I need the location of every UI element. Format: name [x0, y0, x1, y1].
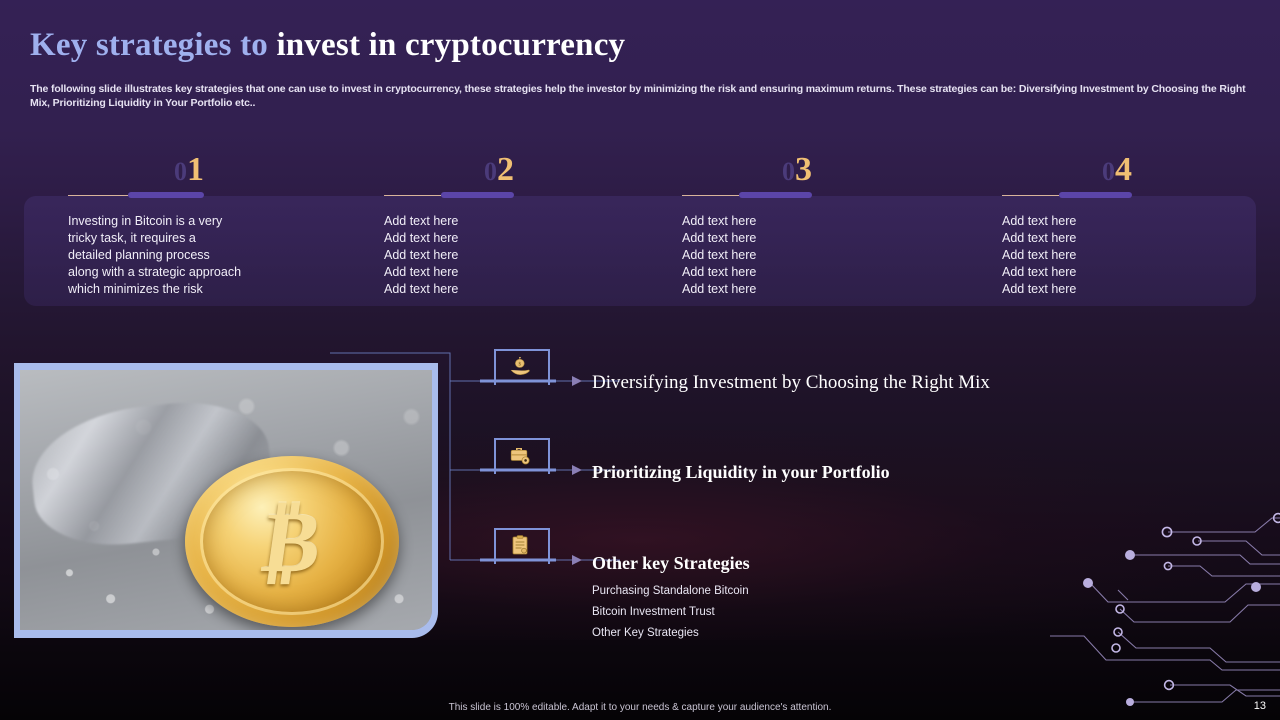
list-item: Other Key Strategies — [592, 623, 749, 644]
strategy-title-1: Diversifying Investment by Choosing the … — [592, 372, 990, 394]
column-number-digit: 1 — [187, 151, 204, 188]
column-number-4: 04 — [1002, 150, 1132, 190]
page-title-main: invest in cryptocurrency — [276, 27, 625, 63]
column-number-digit: 2 — [497, 151, 514, 188]
list-item: Bitcoin Investment Trust — [592, 602, 749, 623]
page-number: 13 — [1254, 700, 1266, 712]
column-body-line: Add text here — [1002, 247, 1280, 264]
column-body-line: Add text here — [384, 281, 684, 298]
divider-thin-rule — [1002, 195, 1059, 196]
column-number-prefix: 0 — [484, 157, 497, 186]
hand-holding-money-bag-icon: $ — [494, 349, 546, 383]
divider-thin-rule — [682, 195, 739, 196]
column-number-prefix: 0 — [1102, 157, 1115, 186]
column-number-digit: 3 — [795, 151, 812, 188]
page-subtitle: The following slide illustrates key stra… — [30, 82, 1252, 110]
column-number-3: 03 — [682, 150, 812, 190]
divider-thin-rule — [68, 195, 128, 196]
numbered-column-3: 03 Add text here Add text here Add text … — [682, 150, 982, 298]
numbered-column-4: 04 Add text here Add text here Add text … — [1002, 150, 1280, 298]
list-item: Purchasing Standalone Bitcoin — [592, 581, 749, 602]
numbered-column-2: 02 Add text here Add text here Add text … — [384, 150, 684, 298]
column-number-1: 01 — [68, 150, 204, 190]
divider-thick-bar — [128, 192, 204, 198]
column-body-line: detailed planning process — [68, 247, 368, 264]
column-body-line: along with a strategic approach — [68, 264, 368, 281]
column-body-1: Investing in Bitcoin is a very tricky ta… — [68, 213, 368, 298]
divider-thick-bar — [441, 192, 514, 198]
strategy-icon-box-1[interactable]: $ — [494, 349, 546, 383]
column-body-4: Add text here Add text here Add text her… — [1002, 213, 1280, 298]
clipboard-document-icon — [494, 528, 546, 562]
column-divider-2 — [384, 192, 514, 199]
column-body-line: Add text here — [384, 213, 684, 230]
column-number-2: 02 — [384, 150, 514, 190]
column-divider-4 — [1002, 192, 1132, 199]
column-body-line: Investing in Bitcoin is a very — [68, 213, 368, 230]
column-body-line: tricky task, it requires a — [68, 230, 368, 247]
connector-diagram — [320, 345, 620, 645]
page-title-accent: Key strategies to — [30, 27, 276, 63]
column-body-3: Add text here Add text here Add text her… — [682, 213, 982, 298]
numbered-column-1: 01 Investing in Bitcoin is a very tricky… — [68, 150, 368, 298]
column-body-line: Add text here — [682, 213, 982, 230]
arrowhead-2 — [572, 465, 582, 475]
column-number-prefix: 0 — [174, 157, 187, 186]
arrowhead-3 — [572, 555, 582, 565]
other-strategies-list: Purchasing Standalone Bitcoin Bitcoin In… — [592, 581, 749, 644]
column-body-2: Add text here Add text here Add text her… — [384, 213, 684, 298]
divider-thin-rule — [384, 195, 441, 196]
column-body-line: Add text here — [682, 230, 982, 247]
column-body-line: Add text here — [1002, 230, 1280, 247]
column-number-digit: 4 — [1115, 151, 1132, 188]
column-divider-1 — [68, 192, 204, 199]
column-body-line: Add text here — [682, 281, 982, 298]
column-body-line: Add text here — [1002, 213, 1280, 230]
column-number-prefix: 0 — [782, 157, 795, 186]
slide-canvas: Key strategies to invest in cryptocurren… — [0, 0, 1280, 720]
strategy-icon-box-3[interactable] — [494, 528, 546, 562]
column-body-line: Add text here — [682, 247, 982, 264]
column-body-line: Add text here — [1002, 264, 1280, 281]
briefcase-gear-icon — [494, 438, 546, 472]
footer-note: This slide is 100% editable. Adapt it to… — [0, 702, 1280, 713]
arrowhead-1 — [572, 376, 582, 386]
strategy-icon-box-2[interactable] — [494, 438, 546, 472]
page-title: Key strategies to invest in cryptocurren… — [30, 27, 625, 64]
divider-thick-bar — [1059, 192, 1132, 198]
connector-top-bracket — [330, 353, 450, 381]
divider-thick-bar — [739, 192, 812, 198]
column-body-line: which minimizes the risk — [68, 281, 368, 298]
column-body-line: Add text here — [384, 247, 684, 264]
strategy-title-2: Prioritizing Liquidity in your Portfolio — [592, 462, 890, 483]
column-divider-3 — [682, 192, 812, 199]
column-body-line: Add text here — [384, 264, 684, 281]
column-body-line: Add text here — [384, 230, 684, 247]
circuit-decoration — [1050, 510, 1280, 720]
column-body-line: Add text here — [1002, 281, 1280, 298]
strategy-title-3: Other key Strategies — [592, 553, 750, 574]
column-body-line: Add text here — [682, 264, 982, 281]
